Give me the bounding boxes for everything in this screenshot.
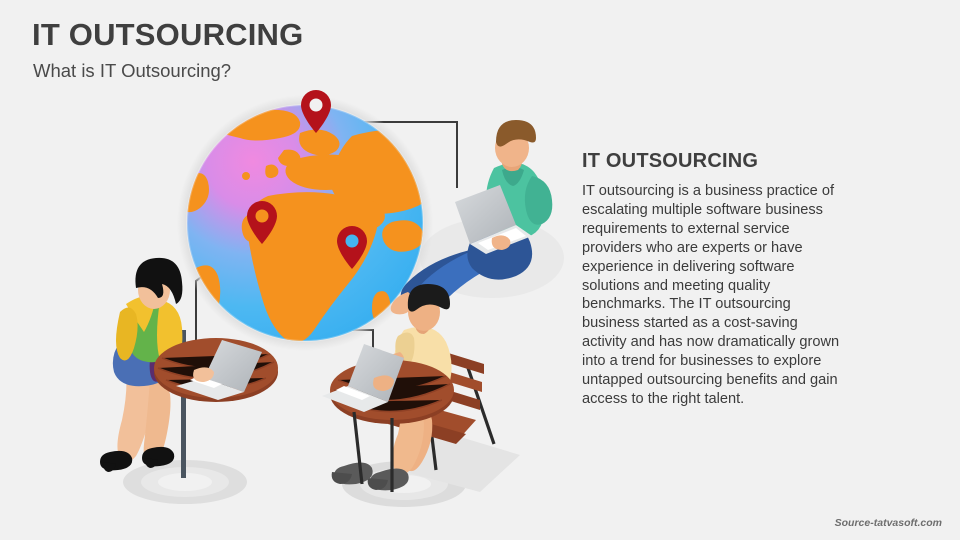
source-attribution: Source-tatvasoft.com xyxy=(835,517,942,529)
slide-canvas: IT OUTSOURCING What is IT Outsourcing? I… xyxy=(0,0,960,540)
panel-body: IT outsourcing is a business practice of… xyxy=(582,182,844,409)
page-title: IT OUTSOURCING xyxy=(32,18,303,52)
page-subtitle: What is IT Outsourcing? xyxy=(33,60,231,82)
panel-heading: IT OUTSOURCING xyxy=(582,150,758,173)
